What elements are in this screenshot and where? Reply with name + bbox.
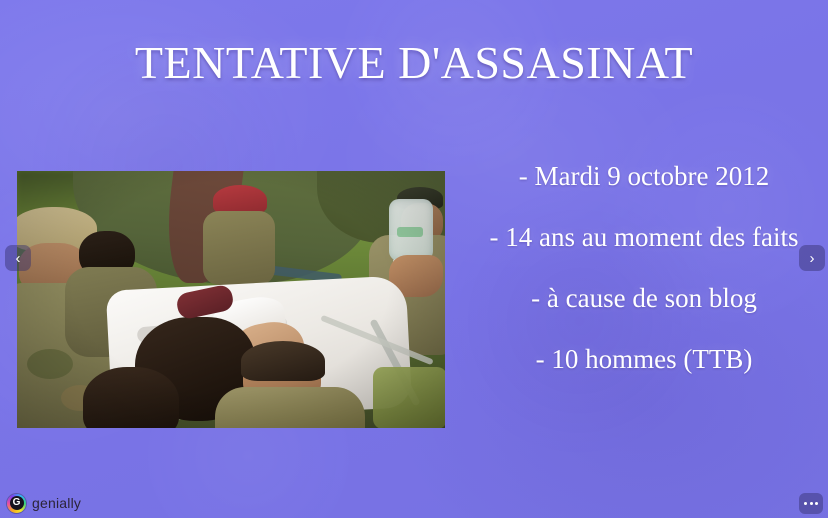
ellipsis-icon[interactable] [799,493,823,514]
chevron-left-icon[interactable]: ‹ [5,245,31,271]
list-item: - à cause de son blog [470,285,818,312]
genially-wordmark: genially [32,495,81,511]
ellipsis-dot [815,502,818,505]
ellipsis-dot [810,502,813,505]
genially-logo-letter: G [10,496,24,510]
list-item: - Mardi 9 octobre 2012 [470,163,818,190]
slide-canvas: TENTATIVE D'ASSASINAT [0,0,828,518]
slide-photo [17,171,445,428]
photo-vignette [17,171,445,428]
page-title: TENTATIVE D'ASSASINAT [0,36,828,89]
ellipsis-dot [804,502,807,505]
list-item: - 14 ans au moment des faits [470,224,818,251]
genially-brand[interactable]: G genially [7,493,81,513]
bullet-list: - Mardi 9 octobre 2012 - 14 ans au momen… [470,163,818,373]
list-item: - 10 hommes (TTB) [470,346,818,373]
chevron-right-icon[interactable]: › [799,245,825,271]
genially-logo-icon: G [7,494,26,513]
